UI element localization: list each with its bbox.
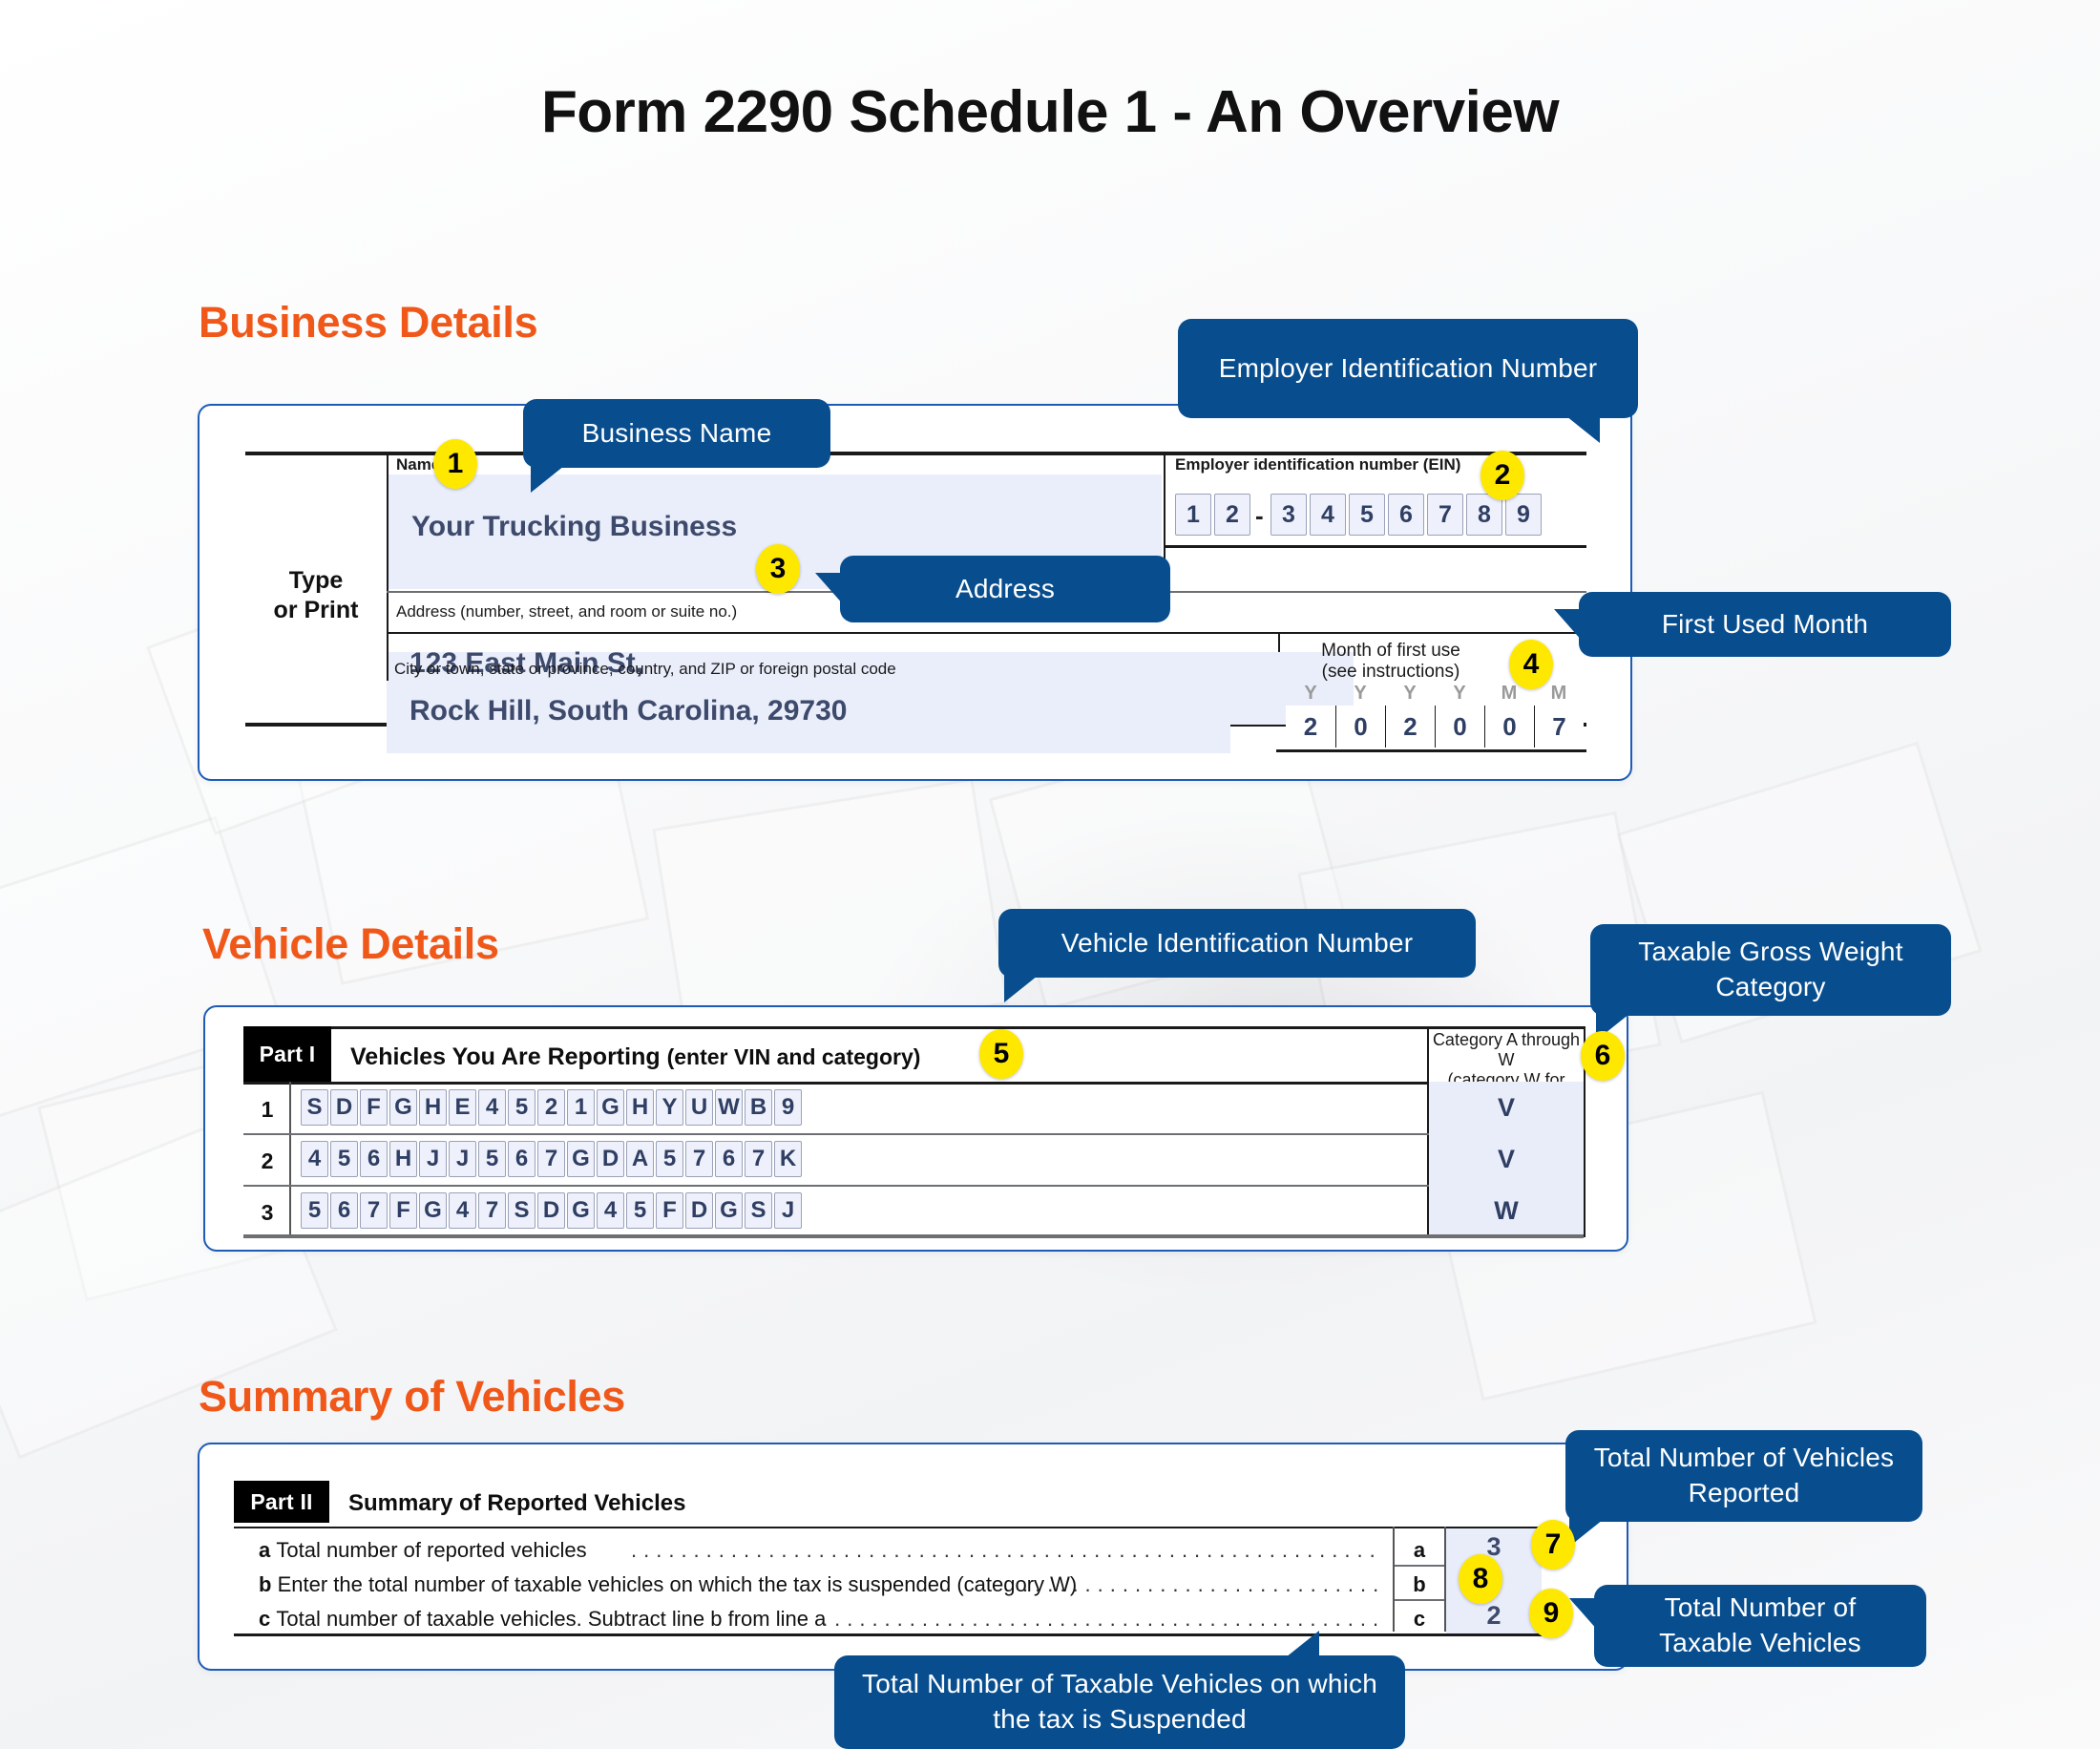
vin-char-r2-c6[interactable]: J — [449, 1141, 476, 1177]
vin-char-r2-c1[interactable]: 4 — [301, 1141, 328, 1177]
summary-leaders-c: ........................................… — [822, 1607, 1383, 1632]
vehicle-category-r3[interactable]: W — [1429, 1185, 1584, 1236]
vin-char-r2-c17[interactable]: K — [774, 1141, 802, 1177]
callout-vin-label: Vehicle Identification Number — [1061, 926, 1413, 961]
vin-char-r2-c11[interactable]: D — [597, 1141, 624, 1177]
marker-8[interactable]: 8 — [1459, 1554, 1502, 1604]
summary-letter-left-rule — [1393, 1527, 1395, 1632]
part-ii-title: Summary of Reported Vehicles — [348, 1490, 685, 1517]
month-caption-line2: (see instructions) — [1322, 662, 1460, 682]
vehicle-category-r2[interactable]: V — [1429, 1133, 1584, 1185]
summary-line-text-b: Enter the total number of taxable vehicl… — [278, 1572, 1078, 1596]
vin-char-r2-c5[interactable]: J — [419, 1141, 447, 1177]
vehicle-header-rule — [243, 1082, 1584, 1085]
vin-char-r3-c4[interactable]: F — [389, 1192, 417, 1229]
summary-line-text-c: Total number of taxable vehicles. Subtra… — [276, 1607, 826, 1631]
callout-address-label: Address — [955, 572, 1055, 607]
summary-leaders-b: ........................................… — [1022, 1572, 1383, 1597]
vin-char-r1-c15[interactable]: W — [715, 1089, 743, 1126]
marker-3[interactable]: 3 — [756, 544, 800, 594]
vin-char-r2-c10[interactable]: G — [567, 1141, 595, 1177]
vin-char-r2-c16[interactable]: 7 — [745, 1141, 772, 1177]
summary-line-letter-b: b — [259, 1572, 278, 1596]
callout-tail — [1281, 1631, 1319, 1661]
city-caption: City or town, state or province, country… — [394, 660, 896, 679]
callout-total-vehicles-reported-label: Total Number of Vehicles Reported — [1586, 1441, 1901, 1511]
callout-tail — [1569, 1516, 1607, 1547]
callout-business-name-label: Business Name — [582, 416, 772, 452]
callout-tail — [1554, 609, 1583, 642]
vin-char-r3-c11[interactable]: 4 — [597, 1192, 624, 1229]
month-digit-3[interactable]: 2 — [1385, 706, 1435, 748]
callout-ein: Employer Identification Number — [1178, 319, 1638, 418]
vehicle-details-panel: Part I Vehicles You Are Reporting (enter… — [203, 1005, 1628, 1252]
summary-leaders-a: ........................................… — [631, 1538, 1383, 1563]
vin-char-r3-c9[interactable]: D — [537, 1192, 565, 1229]
month-of-first-use-caption: Month of first use (see instructions) — [1286, 641, 1496, 684]
vin-char-r3-c8[interactable]: S — [508, 1192, 535, 1229]
part-i-title-sub: (enter VIN and category) — [667, 1044, 921, 1069]
vin-char-r3-c17[interactable]: J — [774, 1192, 802, 1229]
vin-char-r1-c3[interactable]: F — [360, 1089, 388, 1126]
month-digit-1[interactable]: 2 — [1286, 706, 1335, 748]
vin-char-r1-c17[interactable]: 9 — [774, 1089, 802, 1126]
summary-letter-right-rule — [1444, 1527, 1446, 1632]
callout-ein-label: Employer Identification Number — [1219, 351, 1598, 387]
callout-taxable-gross-weight: Taxable Gross Weight Category — [1590, 924, 1951, 1016]
vehicle-category-r1[interactable]: V — [1429, 1082, 1584, 1133]
vehicle-row-number-3: 3 — [249, 1200, 285, 1226]
vin-char-r3-c14[interactable]: D — [685, 1192, 713, 1229]
vin-char-r2-c8[interactable]: 6 — [508, 1141, 535, 1177]
marker-2[interactable]: 2 — [1480, 451, 1524, 500]
summary-box-letter-b: b — [1395, 1572, 1444, 1597]
vehicle-row-rule-1 — [243, 1133, 1584, 1135]
callout-first-used-month-label: First Used Month — [1662, 607, 1868, 643]
vin-char-r3-c6[interactable]: 4 — [449, 1192, 476, 1229]
part-i-title-main: Vehicles You Are Reporting — [350, 1043, 661, 1070]
marker-9[interactable]: 9 — [1529, 1589, 1573, 1638]
vin-char-r3-c13[interactable]: F — [656, 1192, 683, 1229]
vin-char-r3-c3[interactable]: 7 — [360, 1192, 388, 1229]
vin-char-r1-c12[interactable]: H — [626, 1089, 654, 1126]
vin-char-r1-c13[interactable]: Y — [656, 1089, 683, 1126]
part-i-tag: Part I — [243, 1026, 331, 1082]
summary-line-text-a: Total number of reported vehicles — [276, 1538, 586, 1562]
vin-char-r2-c12[interactable]: A — [626, 1141, 654, 1177]
part-ii-tag: Part II — [234, 1481, 329, 1523]
vin-char-r1-c6[interactable]: E — [449, 1089, 476, 1126]
month-digit-2[interactable]: 0 — [1335, 706, 1385, 748]
vin-char-r2-c14[interactable]: 7 — [685, 1141, 713, 1177]
marker-7[interactable]: 7 — [1531, 1520, 1575, 1570]
vin-char-r3-c7[interactable]: 7 — [478, 1192, 506, 1229]
callout-tail — [815, 573, 844, 605]
month-digit-4[interactable]: 0 — [1435, 706, 1484, 748]
vin-char-r1-c7[interactable]: 4 — [478, 1089, 506, 1126]
vin-char-r3-c2[interactable]: 6 — [330, 1192, 358, 1229]
marker-1[interactable]: 1 — [433, 439, 477, 489]
vehicle-row-number-1: 1 — [249, 1097, 285, 1123]
summary-box-letter-c: c — [1395, 1607, 1444, 1632]
page-title: Form 2290 Schedule 1 - An Overview — [0, 78, 2100, 146]
month-caption-line1: Month of first use — [1321, 641, 1460, 661]
part-i-title: Vehicles You Are Reporting (enter VIN an… — [350, 1043, 920, 1071]
callout-suspended-taxable-vehicles: Total Number of Taxable Vehicles on whic… — [834, 1655, 1405, 1749]
vin-char-r3-c16[interactable]: S — [745, 1192, 772, 1229]
callout-business-name: Business Name — [523, 399, 830, 468]
callout-tail — [1562, 412, 1600, 443]
month-ym-label-2: Y — [1335, 683, 1385, 705]
callout-tail — [531, 462, 569, 493]
vin-char-r2-c15[interactable]: 6 — [715, 1141, 743, 1177]
vehicle-row-rule-2 — [243, 1185, 1584, 1187]
vin-char-r1-c5[interactable]: H — [419, 1089, 447, 1126]
callout-suspended-taxable-vehicles-label: Total Number of Taxable Vehicles on whic… — [855, 1667, 1384, 1738]
vin-char-r2-c4[interactable]: H — [389, 1141, 417, 1177]
vin-char-r3-c1[interactable]: 5 — [301, 1192, 328, 1229]
callout-total-taxable-vehicles: Total Number of Taxable Vehicles — [1594, 1585, 1926, 1667]
summary-line-letter-c: c — [259, 1607, 276, 1631]
vin-char-r2-c9[interactable]: 7 — [537, 1141, 565, 1177]
summary-panel: Part II Summary of Reported Vehicles a T… — [198, 1443, 1628, 1671]
callout-total-taxable-vehicles-label: Total Number of Taxable Vehicles — [1615, 1591, 1905, 1661]
vin-char-r2-c3[interactable]: 6 — [360, 1141, 388, 1177]
vehicle-row-number-2: 2 — [249, 1148, 285, 1174]
summary-value-c[interactable]: 2 — [1446, 1597, 1542, 1633]
callout-tail — [1569, 1598, 1598, 1631]
callout-total-vehicles-reported: Total Number of Vehicles Reported — [1565, 1430, 1922, 1522]
summary-bottom-rule — [234, 1633, 1542, 1636]
marker-6[interactable]: 6 — [1581, 1031, 1625, 1081]
vin-char-r1-c4[interactable]: G — [389, 1089, 417, 1126]
summary-header-rule — [234, 1527, 1542, 1528]
callout-address: Address — [840, 556, 1170, 622]
month-bottom-rule — [1276, 749, 1586, 752]
vin-char-r3-c15[interactable]: G — [715, 1192, 743, 1229]
vehicle-top-rule — [243, 1026, 1584, 1029]
vehicle-bottom-rule — [243, 1234, 1584, 1237]
vin-char-r1-c1[interactable]: S — [301, 1089, 328, 1126]
month-ym-label-1: Y — [1286, 683, 1335, 705]
summary-line-a: a Total number of reported vehicles — [259, 1538, 587, 1563]
month-ym-label-4: Y — [1435, 683, 1484, 705]
vin-char-r1-c14[interactable]: U — [685, 1089, 713, 1126]
vin-char-r3-c12[interactable]: 5 — [626, 1192, 654, 1229]
summary-line-b: b Enter the total number of taxable vehi… — [259, 1572, 1077, 1597]
vin-char-r3-c5[interactable]: G — [419, 1192, 447, 1229]
month-digit-5[interactable]: 0 — [1484, 706, 1534, 748]
section-heading-summary-of-vehicles: Summary of Vehicles — [199, 1372, 625, 1422]
month-digit-6[interactable]: 7 — [1534, 706, 1584, 748]
marker-5[interactable]: 5 — [979, 1029, 1023, 1079]
vin-char-r2-c13[interactable]: 5 — [656, 1141, 683, 1177]
section-heading-business-details: Business Details — [199, 298, 537, 348]
vin-char-r2-c7[interactable]: 5 — [478, 1141, 506, 1177]
callout-first-used-month: First Used Month — [1579, 592, 1951, 657]
vin-char-r1-c10[interactable]: 1 — [567, 1089, 595, 1126]
vehicle-rownum-rule — [289, 1082, 291, 1237]
vin-char-r1-c16[interactable]: B — [745, 1089, 772, 1126]
callout-tail — [1004, 972, 1042, 1002]
vin-char-r2-c2[interactable]: 5 — [330, 1141, 358, 1177]
summary-line-letter-a: a — [259, 1538, 276, 1562]
month-ym-label-3: Y — [1385, 683, 1435, 705]
vin-char-r3-c10[interactable]: G — [567, 1192, 595, 1229]
section-heading-vehicle-details: Vehicle Details — [202, 919, 499, 969]
vin-char-r1-c8[interactable]: 5 — [508, 1089, 535, 1126]
callout-vin: Vehicle Identification Number — [998, 909, 1476, 978]
vin-char-r1-c9[interactable]: 2 — [537, 1089, 565, 1126]
summary-box-letter-a: a — [1395, 1538, 1444, 1563]
marker-4[interactable]: 4 — [1509, 640, 1553, 689]
callout-taxable-gross-weight-label: Taxable Gross Weight Category — [1611, 935, 1930, 1005]
category-header-line1: Category A through W — [1433, 1030, 1580, 1069]
vin-char-r1-c11[interactable]: G — [597, 1089, 624, 1126]
summary-line-c: c Total number of taxable vehicles. Subt… — [259, 1607, 826, 1632]
vin-char-r1-c2[interactable]: D — [330, 1089, 358, 1126]
city-value: Rock Hill, South Carolina, 29730 — [409, 695, 847, 727]
